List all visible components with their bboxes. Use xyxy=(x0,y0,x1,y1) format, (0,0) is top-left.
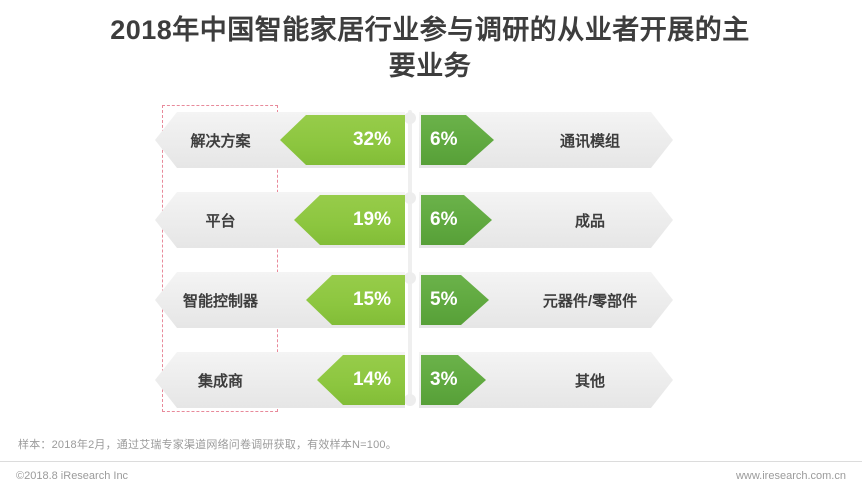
chart-row: 智能控制器 15% 5% 元器件/零部件 xyxy=(0,272,862,328)
website-link[interactable]: www.iresearch.com.cn xyxy=(736,470,846,482)
page-title: 2018年中国智能家居行业参与调研的从业者开展的主要业务 xyxy=(110,12,750,84)
chart-row: 集成商 14% 3% 其他 xyxy=(0,352,862,408)
sample-note: 样本：2018年2月，通过艾瑞专家渠道网络问卷调研获取，有效样本N=100。 xyxy=(18,436,397,452)
chart-canvas: 2018年中国智能家居行业参与调研的从业者开展的主要业务 解决方案 32% 6%… xyxy=(0,0,862,492)
category-label-right: 成品 xyxy=(520,192,660,248)
footer-divider xyxy=(0,461,862,462)
category-label-left: 解决方案 xyxy=(163,112,278,168)
category-label-right: 其他 xyxy=(520,352,660,408)
category-label-left: 平台 xyxy=(163,192,278,248)
bar-left[interactable]: 32% xyxy=(280,115,405,165)
copyright-text: ©2018.8 iResearch Inc xyxy=(16,470,128,482)
chart-row: 平台 19% 6% 成品 xyxy=(0,192,862,248)
chart-body: 解决方案 32% 6% 通讯模组 平台 19% 6% 成品 智能控制器 15% … xyxy=(0,100,862,420)
category-label-left: 集成商 xyxy=(163,352,278,408)
category-label-right: 元器件/零部件 xyxy=(520,272,660,328)
category-label-right: 通讯模组 xyxy=(520,112,660,168)
category-label-left: 智能控制器 xyxy=(163,272,278,328)
chart-row: 解决方案 32% 6% 通讯模组 xyxy=(0,112,862,168)
